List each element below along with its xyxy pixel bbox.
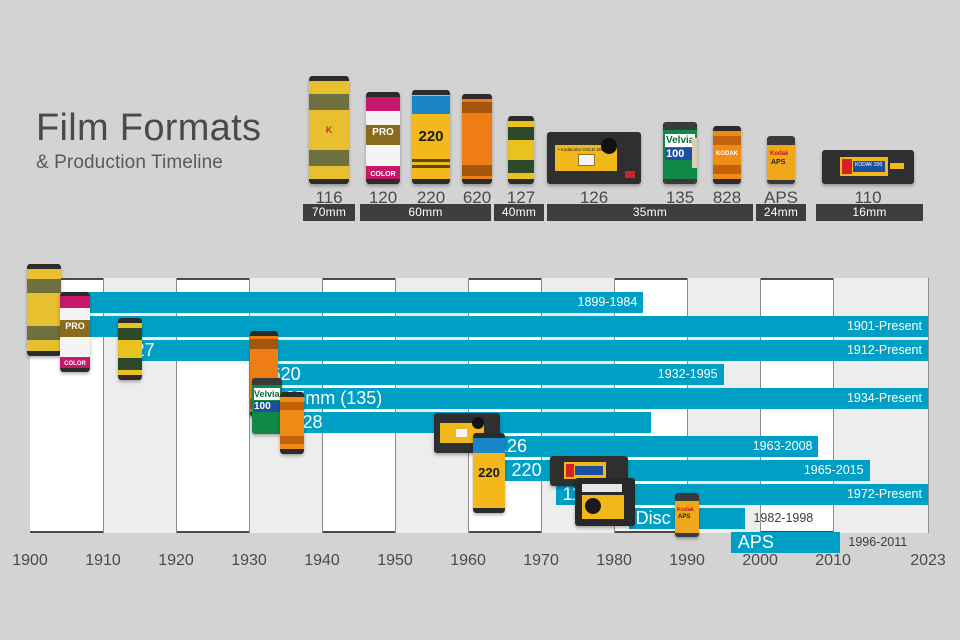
timeline-bar-years: 1912-Present — [847, 340, 922, 361]
chart-thumb-116 — [27, 264, 61, 356]
chart-thumb-135: Velvia 100 — [252, 378, 282, 434]
timeline-bar[interactable] — [30, 292, 643, 313]
width-band-60mm: 60mm — [360, 204, 491, 221]
timeline-bar-years: 1963-2008 — [753, 436, 813, 457]
film-roll-220-icon: 220 — [412, 90, 450, 184]
chart-thumb-120: PRO COLOR — [60, 292, 90, 372]
film-roll-127-icon — [508, 116, 534, 184]
film-roll-120-icon: PRO COLOR — [366, 92, 400, 184]
specimen-116: K — [309, 76, 349, 184]
x-axis-tick-label: 1900 — [0, 552, 60, 570]
film-roll-828-icon: KODAK — [713, 126, 741, 184]
x-axis-tick-label: 1930 — [219, 552, 279, 570]
x-axis-tick-label: 1920 — [146, 552, 206, 570]
x-axis-tick-label: 1990 — [657, 552, 717, 570]
timeline-bar-years: 1932-1995 — [658, 364, 718, 385]
timeline-bar-label: APS — [738, 532, 774, 553]
film-cartridge-110-icon: KODAK 200 — [822, 150, 914, 184]
chart-thumb-aps: Kodak APS — [675, 493, 699, 537]
film-cartridge-126-icon: • Kodacolor GOLD 200 film — [547, 132, 641, 184]
chart-thumb-disc — [575, 478, 635, 526]
x-axis-tick-label: 2010 — [803, 552, 863, 570]
film-cassette-aps-icon: Kodak APS — [767, 136, 795, 184]
specimen-aps: Kodak APS — [767, 136, 795, 184]
x-axis-tick-label: 1960 — [438, 552, 498, 570]
x-axis-tick-label: 1910 — [73, 552, 133, 570]
timeline-bar[interactable] — [37, 316, 928, 337]
width-band-35mm: 35mm — [547, 204, 753, 221]
specimen-127 — [508, 116, 534, 184]
x-axis-tick-label: 1970 — [511, 552, 571, 570]
timeline-chart: 1161899-19841201901-Present1271912-Prese… — [30, 278, 928, 548]
x-axis-tick-label: 2023 — [898, 552, 958, 570]
specimen-220: 220 — [412, 90, 450, 184]
width-band-16mm: 16mm — [816, 204, 923, 221]
gridline — [928, 278, 929, 533]
x-axis-tick-label: 1950 — [365, 552, 425, 570]
timeline-bar-years: 1934-Present — [847, 388, 922, 409]
specimen-110: KODAK 200 — [822, 150, 914, 184]
infographic-page: Film Formats & Production Timeline K 116… — [0, 0, 960, 640]
specimen-828: KODAK — [713, 126, 741, 184]
timeline-bar[interactable] — [264, 364, 724, 385]
specimen-135: Velvia 100 — [663, 122, 697, 184]
chart-thumb-828 — [280, 392, 304, 454]
chart-thumb-220: 220 — [473, 433, 505, 513]
x-axis-tick-label: 1980 — [584, 552, 644, 570]
chart-thumb-127 — [118, 318, 142, 380]
x-axis-tick-label: 2000 — [730, 552, 790, 570]
timeline-bar-years: 1996-2011 — [848, 532, 907, 553]
timeline-bar-years: 1972-Present — [847, 484, 922, 505]
specimen-strip: K 116 PRO COLOR 120 220 — [0, 0, 960, 230]
specimen-126: • Kodacolor GOLD 200 film — [547, 132, 641, 184]
width-band-40mm: 40mm — [494, 204, 544, 221]
specimen-620 — [462, 94, 492, 184]
timeline-bar-label: 220 — [512, 460, 542, 481]
width-band-70mm: 70mm — [303, 204, 355, 221]
film-cassette-135-icon: Velvia 100 — [663, 122, 697, 184]
x-axis: 1900191019201930194019501960197019801990… — [30, 552, 950, 576]
timeline-bar-years: 1965-2015 — [804, 460, 864, 481]
timeline-bar-years: 1982-1998 — [753, 508, 813, 529]
film-roll-620-icon — [462, 94, 492, 184]
timeline-bar[interactable] — [118, 340, 928, 361]
timeline-bar-label: Disc — [636, 508, 671, 529]
film-roll-116-icon: K — [309, 76, 349, 184]
timeline-bar-years: 1901-Present — [847, 316, 922, 337]
specimen-120: PRO COLOR — [366, 92, 400, 184]
width-band-24mm: 24mm — [756, 204, 806, 221]
x-axis-tick-label: 1940 — [292, 552, 352, 570]
timeline-bar-years: 1899-1984 — [578, 292, 638, 313]
